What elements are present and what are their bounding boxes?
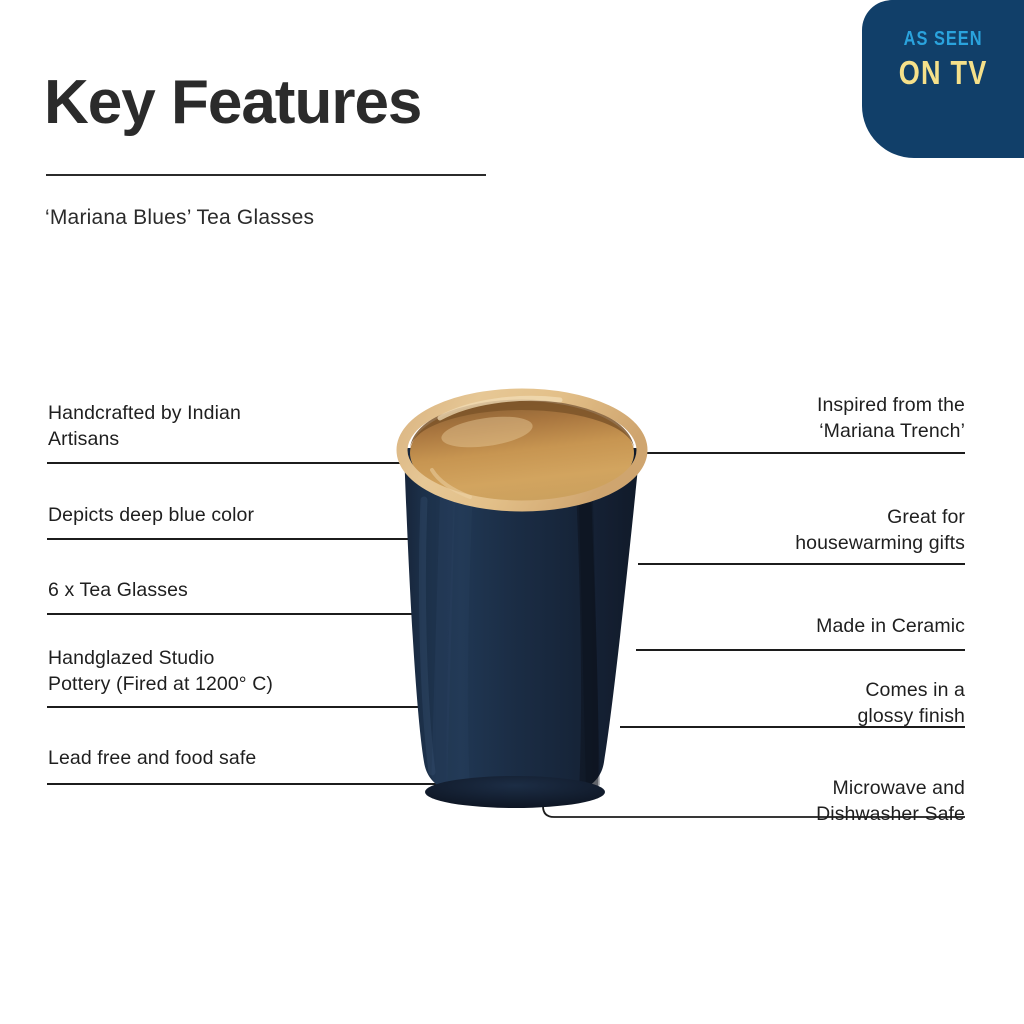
callout-rule-left-2 bbox=[47, 538, 419, 540]
badge-line-2: ON TV bbox=[899, 54, 988, 92]
page-subtitle: ‘Mariana Blues’ Tea Glasses bbox=[45, 206, 314, 230]
badge-line-1: AS SEEN bbox=[904, 28, 983, 50]
feature-label-left-1: Handcrafted by Indian Artisans bbox=[48, 400, 241, 452]
feature-label-left-2: Depicts deep blue color bbox=[48, 502, 254, 528]
feature-label-left-5: Lead free and food safe bbox=[48, 745, 256, 771]
callout-rule-left-5 bbox=[47, 783, 447, 785]
callout-rule-left-4 bbox=[47, 706, 435, 708]
feature-label-right-1: Inspired from the ‘Mariana Trench’ bbox=[817, 392, 965, 444]
page-title: Key Features bbox=[44, 72, 421, 134]
feature-label-left-3: 6 x Tea Glasses bbox=[48, 577, 188, 603]
feature-label-right-4: Comes in a glossy finish bbox=[857, 677, 965, 729]
feature-label-left-4: Handglazed Studio Pottery (Fired at 1200… bbox=[48, 645, 273, 697]
callout-rule-left-1 bbox=[47, 462, 405, 464]
title-divider bbox=[46, 174, 486, 176]
feature-label-right-3: Made in Ceramic bbox=[816, 613, 965, 639]
feature-label-right-2: Great for housewarming gifts bbox=[795, 504, 965, 556]
feature-label-right-5: Microwave and Dishwasher Safe bbox=[816, 775, 965, 827]
callout-rule-right-1 bbox=[645, 452, 965, 454]
as-seen-on-tv-badge: AS SEEN ON TV bbox=[862, 0, 1024, 158]
key-features-infographic: AS SEEN ON TV Key Features ‘Mariana Blue… bbox=[0, 0, 1024, 1024]
callout-rule-left-3 bbox=[47, 613, 422, 615]
callout-rule-right-2 bbox=[638, 563, 965, 565]
callout-rule-right-3 bbox=[636, 649, 965, 651]
